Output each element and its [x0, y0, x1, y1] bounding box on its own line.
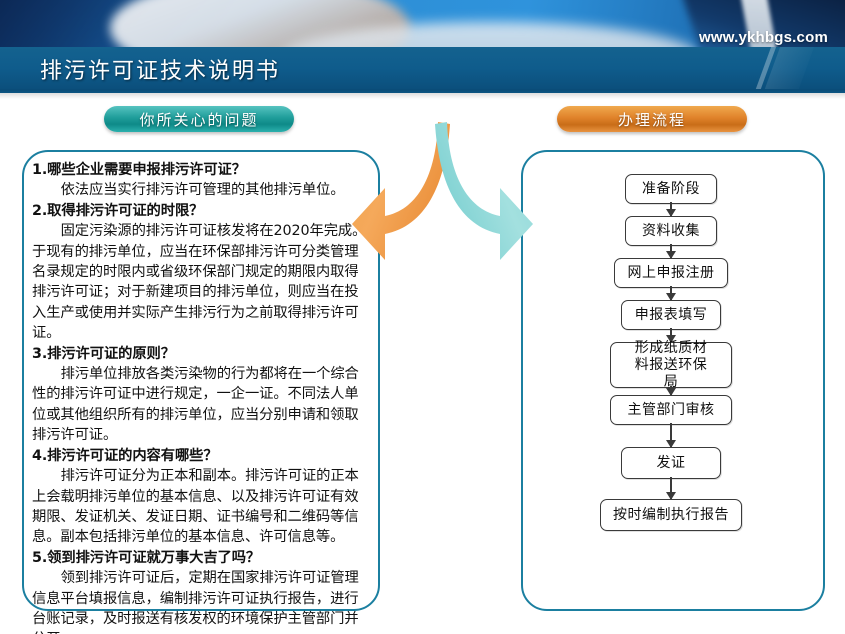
faq-answer: 固定污染源的排污许可证核发将在2020年完成。于现有的排污单位，应当在环保部排污…: [32, 221, 367, 343]
orange-curved-arrow-left: [352, 122, 450, 260]
process-flow-chart: 准备阶段资料收集网上申报注册申报表填写形成纸质材料报送环保局主管部门审核发证按时…: [521, 150, 821, 607]
flow-step-4[interactable]: 申报表填写: [621, 300, 721, 330]
flow-step-label: 主管部门审核: [628, 402, 715, 419]
flow-connector-1: [670, 202, 672, 216]
faq-question: 3.排污许可证的原则？: [32, 344, 367, 364]
flow-step-6[interactable]: 主管部门审核: [610, 395, 732, 425]
title-bar-shadow: [0, 93, 845, 99]
flow-step-label: 资料收集: [642, 223, 700, 240]
flow-connector-7: [670, 477, 672, 499]
tab-questions-pill[interactable]: 你所关心的问题: [104, 106, 294, 132]
flow-connector-3: [670, 286, 672, 300]
flow-step-7[interactable]: 发证: [621, 447, 721, 479]
center-arrows: [350, 118, 535, 283]
faq-answer: 排污单位排放各类污染物的行为都将在一个综合性的排污许可证中进行规定，一企一证。不…: [32, 364, 367, 446]
flow-step-1[interactable]: 准备阶段: [625, 174, 717, 204]
flow-step-label: 准备阶段: [642, 181, 700, 198]
faq-question: 2.取得排污许可证的时限？: [32, 201, 367, 221]
faq-answer: 排污许可证分为正本和副本。排污许可证的正本上会载明排污单位的基本信息、以及排污许…: [32, 466, 367, 548]
flow-step-8[interactable]: 按时编制执行报告: [600, 499, 742, 531]
faq-question: 5.领到排污许可证就万事大吉了吗？: [32, 548, 367, 568]
title-bar: 排污许可证技术说明书: [0, 47, 845, 89]
flow-step-label: 发证: [657, 455, 686, 472]
flow-step-2[interactable]: 资料收集: [625, 216, 717, 246]
page-title: 排污许可证技术说明书: [40, 53, 280, 85]
faq-text-block: 1.哪些企业需要申报排污许可证？依法应当实行排污许可管理的其他排污单位。2.取得…: [32, 160, 367, 600]
flow-connector-5: [670, 386, 672, 395]
flow-step-label: 形成纸质材料报送环保局: [628, 340, 714, 391]
faq-question: 1.哪些企业需要申报排污许可证？: [32, 160, 367, 180]
faq-answer: 依法应当实行排污许可管理的其他排污单位。: [32, 180, 367, 200]
tab-process-pill[interactable]: 办理流程: [557, 106, 747, 132]
tab-process-label: 办理流程: [618, 109, 686, 130]
faq-question: 4.排污许可证的内容有哪些？: [32, 446, 367, 466]
teal-curved-arrow-right: [435, 122, 533, 260]
flow-step-label: 按时编制执行报告: [613, 507, 729, 524]
flow-connector-6: [670, 423, 672, 447]
flow-step-label: 申报表填写: [635, 307, 708, 324]
site-url-label: www.ykhbgs.com: [699, 29, 828, 46]
flow-step-3[interactable]: 网上申报注册: [614, 258, 728, 288]
tab-questions-label: 你所关心的问题: [139, 109, 258, 130]
flow-step-5[interactable]: 形成纸质材料报送环保局: [610, 342, 732, 388]
flow-connector-2: [670, 244, 672, 258]
faq-answer: 领到排污许可证后，定期在国家排污许可证管理信息平台填报信息，编制排污许可证执行报…: [32, 568, 367, 634]
slide-page: www.ykhbgs.com 排污许可证技术说明书 你所关心的问题 办理流程 1…: [0, 0, 845, 634]
flow-step-label: 网上申报注册: [628, 265, 715, 282]
